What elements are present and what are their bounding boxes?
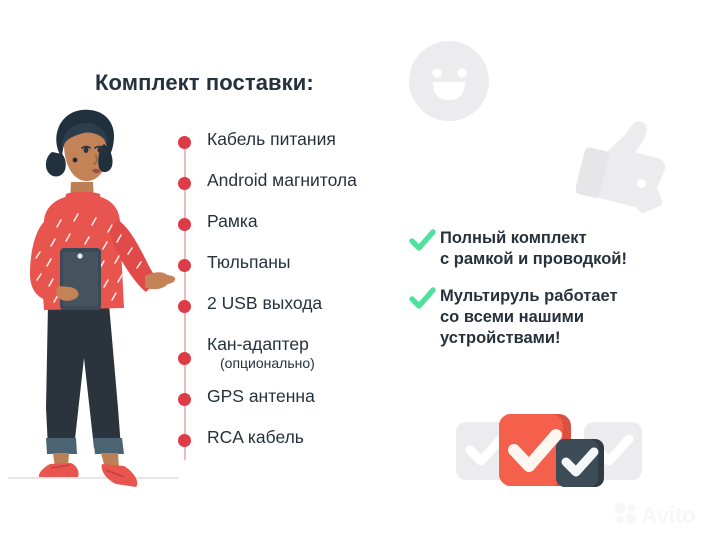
list-item-label: 2 USB выхода xyxy=(207,294,322,313)
list-item-label: Кан-адаптер (опционально) xyxy=(207,335,315,371)
bullet-dot-icon xyxy=(178,136,191,149)
list-item: Тюльпаны xyxy=(178,253,428,294)
list-item-label: Android магнитола xyxy=(207,171,357,190)
feature-label: Полный комплект с рамкой и проводкой! xyxy=(440,228,627,269)
list-item: 2 USB выхода xyxy=(178,294,428,335)
list-item-label: RCA кабель xyxy=(207,428,304,447)
list-item-main-text: Кан-адаптер xyxy=(207,334,309,354)
bullet-dot-icon xyxy=(178,434,191,447)
feature-list: Полный комплект с рамкой и проводкой! Му… xyxy=(409,228,699,365)
check-icon xyxy=(409,287,436,311)
bullet-dot-icon xyxy=(178,177,191,190)
feature-line: Полный комплект xyxy=(440,229,587,247)
spec-list: Кабель питания Android магнитола Рамка Т… xyxy=(178,130,428,469)
feature-item: Мультируль работает со всеми нашими устр… xyxy=(409,286,699,348)
list-item-label: GPS антенна xyxy=(207,387,315,406)
avito-watermark: Avito xyxy=(614,500,712,530)
list-item-label: Тюльпаны xyxy=(207,253,290,272)
list-item: RCA кабель xyxy=(178,428,428,469)
list-item-sub-text: (опционально) xyxy=(220,356,315,371)
list-item: GPS антенна xyxy=(178,387,428,428)
checkbox-tiles-icon xyxy=(456,398,642,502)
bullet-dot-icon xyxy=(178,218,191,231)
list-item: Кабель питания xyxy=(178,130,428,171)
feature-item: Полный комплект с рамкой и проводкой! xyxy=(409,228,699,269)
feature-line: со всеми нашими xyxy=(440,308,584,326)
bullet-dot-icon xyxy=(178,352,191,365)
list-item: Кан-адаптер (опционально) xyxy=(178,335,428,387)
check-icon xyxy=(409,229,436,253)
list-item-label: Кабель питания xyxy=(207,130,336,149)
feature-label: Мультируль работает со всеми нашими устр… xyxy=(440,286,618,348)
product-infographic: Комплект поставки: Кабель питания Androi… xyxy=(0,0,720,540)
feature-line: устройствами! xyxy=(440,329,561,347)
bullet-dot-icon xyxy=(178,393,191,406)
page-title: Комплект поставки: xyxy=(95,70,314,96)
bullet-dot-icon xyxy=(178,259,191,272)
avito-wordmark: Avito xyxy=(641,504,695,527)
list-item-label: Рамка xyxy=(207,212,258,231)
avito-logo-icon xyxy=(614,501,638,530)
feature-line: Мультируль работает xyxy=(440,287,618,305)
thumbs-up-icon xyxy=(576,112,672,214)
list-item: Android магнитола xyxy=(178,171,428,212)
bullet-dot-icon xyxy=(178,300,191,313)
smiley-face-icon xyxy=(408,40,490,122)
feature-line: с рамкой и проводкой! xyxy=(440,250,627,268)
woman-with-tablet-illustration xyxy=(8,108,178,508)
list-item: Рамка xyxy=(178,212,428,253)
